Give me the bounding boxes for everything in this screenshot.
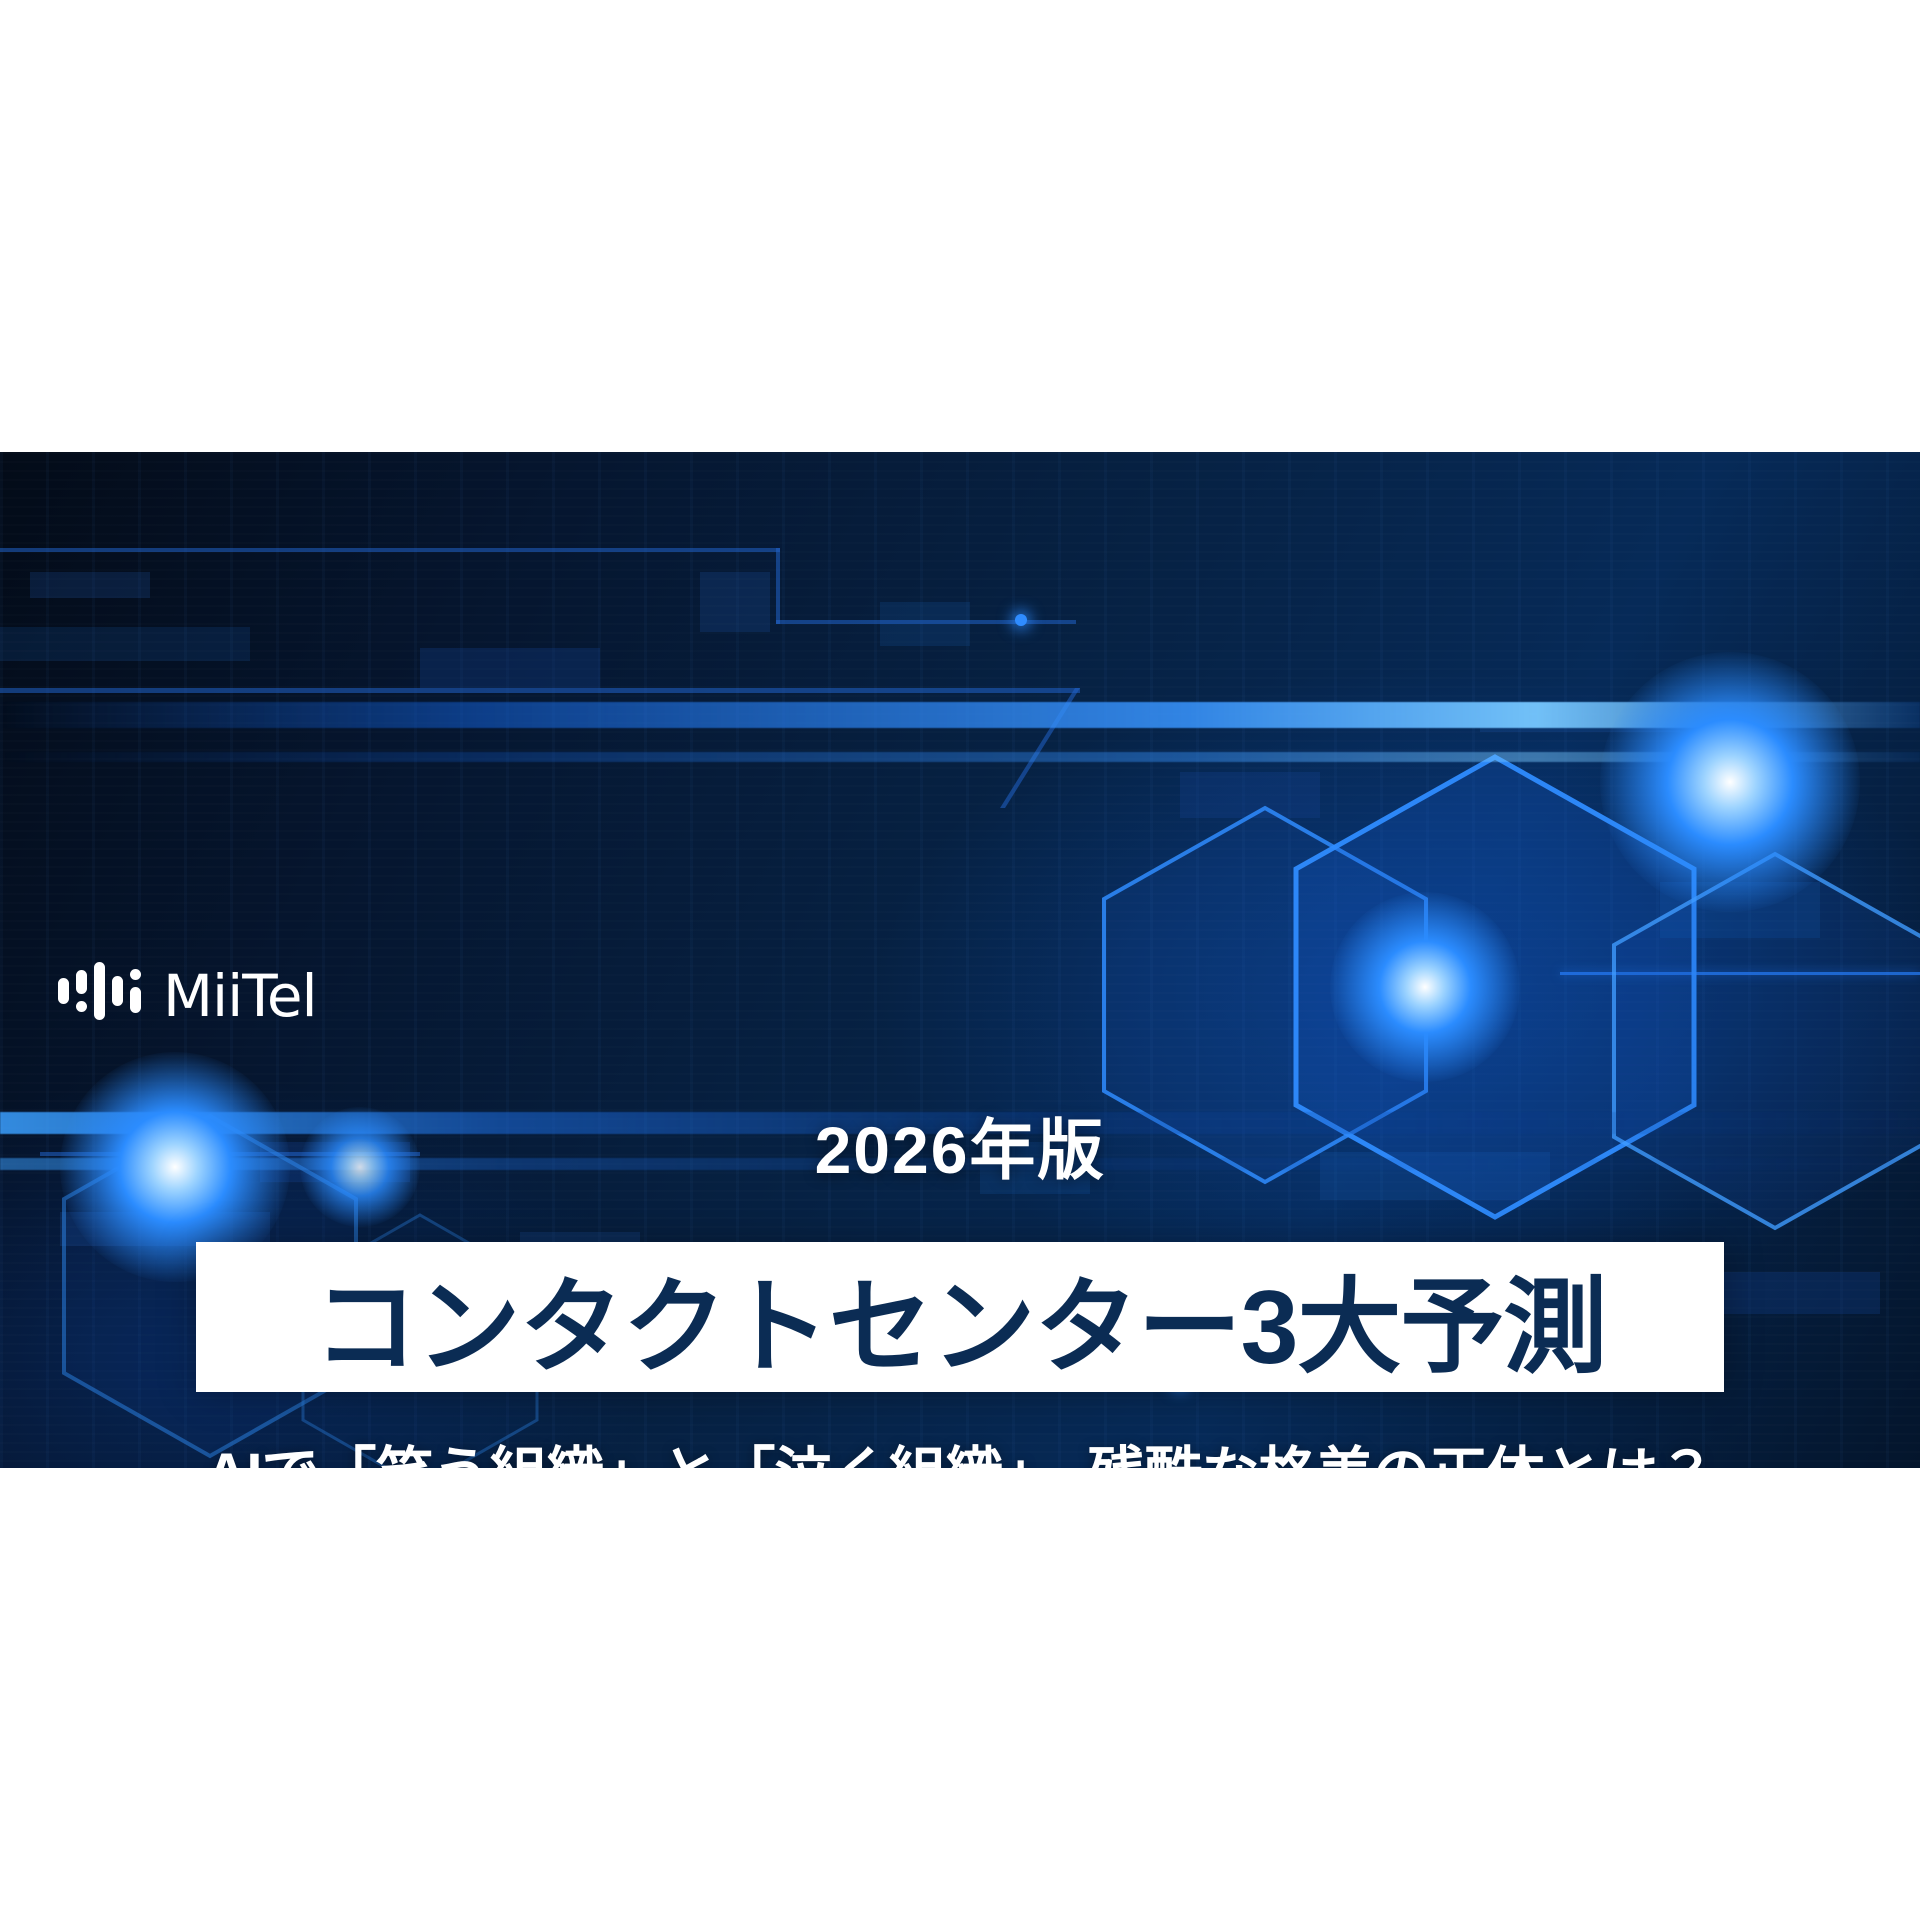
subtitle: AIで「笑う組織」と「泣く組織」。残酷な格差の正体とは？ — [0, 1427, 1920, 1468]
miitel-waveform-icon — [58, 958, 141, 1024]
decor-chip — [880, 602, 970, 646]
miitel-logo[interactable]: MiiTel — [58, 958, 317, 1024]
main-title-box: コンタクトセンター3大予測 — [196, 1242, 1724, 1392]
decor-chip — [0, 627, 250, 661]
year-label: 2026年版 — [0, 1097, 1920, 1193]
circuit-node-icon — [1015, 614, 1027, 626]
circuit-trace — [776, 548, 780, 624]
webinar-banner: MiiTel 2026年版 コンタクトセンター3大予測 AIで「笑う組織」と「泣… — [0, 452, 1920, 1468]
circuit-trace — [0, 548, 780, 552]
miitel-logo-text: MiiTel — [163, 969, 317, 1024]
page-root: MiiTel 2026年版 コンタクトセンター3大予測 AIで「笑う組織」と「泣… — [0, 0, 1920, 1920]
decor-chip — [420, 648, 600, 688]
main-title: コンタクトセンター3大予測 — [314, 1242, 1607, 1393]
light-flare — [1330, 892, 1520, 1082]
light-flare — [1600, 652, 1860, 912]
decor-chip — [700, 572, 770, 632]
circuit-trace — [0, 688, 1080, 693]
decor-chip — [30, 572, 150, 598]
circuit-trace — [776, 620, 1076, 624]
